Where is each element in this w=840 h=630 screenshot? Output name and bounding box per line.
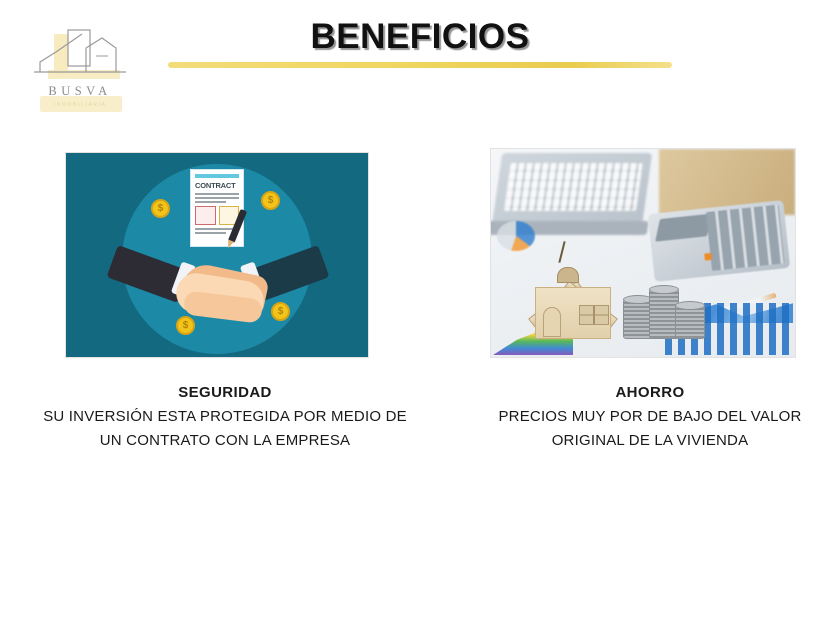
contract-header-bar [195,174,239,178]
logo-wordmark: BUSVA [26,84,134,99]
benefit-card-ahorro: AHORRO PRECIOS MUY POR DE BAJO DEL VALOR… [465,148,835,453]
coin-icon: $ [271,302,290,321]
coin-stack-top [675,301,705,310]
weather-vane [558,241,565,263]
contract-field-row [195,206,239,225]
house-door [543,307,561,337]
company-logo: BUSVA INMOBILIARIA [26,26,134,114]
coin-icon: $ [151,199,170,218]
wooden-house-model [527,243,619,339]
calculator-keys [706,205,785,271]
logo-tagline: INMOBILIARIA [26,102,134,108]
contract-text-line [195,232,226,234]
calculator-display [655,214,712,242]
house-window [579,305,609,325]
contract-text-line [195,193,239,195]
page-title: BENEFICIOS [200,16,640,58]
benefit-caption-ahorro: AHORRO PRECIOS MUY POR DE BAJO DEL VALOR… [465,384,835,453]
benefit-body: PRECIOS MUY POR DE BAJO DEL VALOR ORIGIN… [465,405,835,453]
contract-text-line [195,197,239,199]
benefit-caption-seguridad: SEGURIDAD SU INVERSIÓN ESTA PROTEGIDA PO… [40,384,410,453]
handshake-contract-illustration: CONTRACT $ $ $ $ [65,152,369,358]
laptop-keyboard [492,153,652,227]
coin-stack [675,305,705,339]
contract-text-line [195,201,226,203]
coin-icon: $ [261,191,280,210]
benefit-card-seguridad: CONTRACT $ $ $ $ SEGURIDAD SU INVERSIÓN … [40,152,410,453]
benefit-title: AHORRO [465,384,835,401]
buildings-outline-icon [26,26,134,86]
coin-icon: $ [176,316,195,335]
house-model-coins-calculator-photo [490,148,796,358]
contract-label: CONTRACT [195,181,239,190]
calculator [648,200,790,282]
coin-stack-top [649,285,679,294]
title-underline-rule [168,62,672,68]
benefit-title: SEGURIDAD [40,384,410,401]
contract-field-box [195,206,216,225]
benefit-body: SU INVERSIÓN ESTA PROTEGIDA POR MEDIO DE… [40,405,410,453]
attic-window [557,267,579,283]
calculator-accent-key [704,253,712,261]
laptop-keys [504,163,643,211]
